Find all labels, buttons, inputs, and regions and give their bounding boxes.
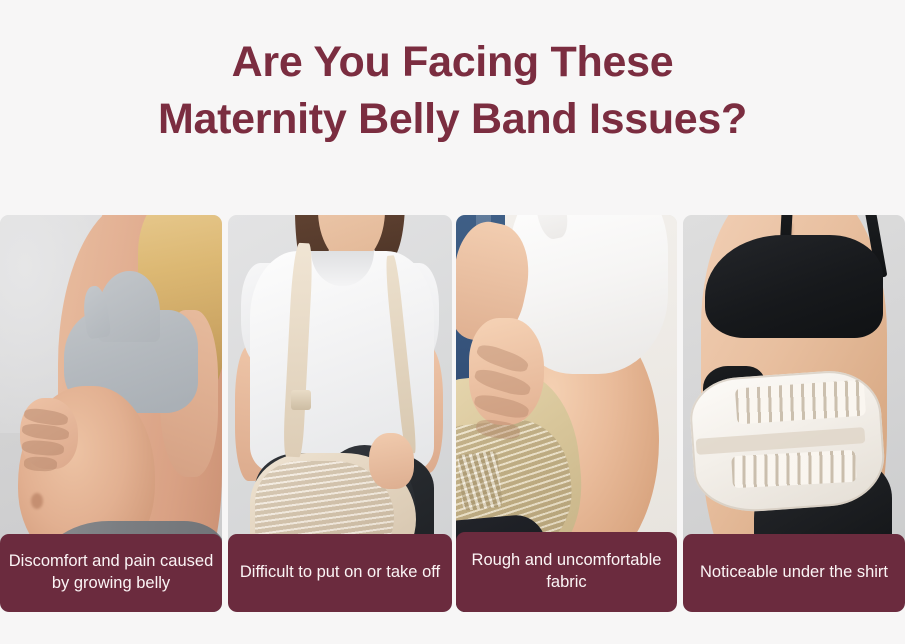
issue-caption-1: Discomfort and pain caused by growing be… (0, 534, 222, 612)
issue-panel-1[interactable]: Discomfort and pain caused by growing be… (0, 215, 222, 612)
issue-caption-3: Rough and uncomfortable fabric (456, 532, 677, 612)
issue-panel-2[interactable]: Difficult to put on or take off (228, 215, 452, 612)
page-title: Are You Facing These Maternity Belly Ban… (0, 34, 905, 148)
page-title-line-2: Maternity Belly Band Issues? (0, 91, 905, 148)
issue-caption-4: Noticeable under the shirt (683, 534, 905, 612)
issue-caption-2: Difficult to put on or take off (228, 534, 452, 612)
issue-panel-row: Discomfort and pain caused by growing be… (0, 215, 905, 612)
promotional-banner: Are You Facing These Maternity Belly Ban… (0, 0, 905, 644)
page-title-line-1: Are You Facing These (0, 34, 905, 91)
issue-panel-4[interactable]: Noticeable under the shirt (683, 215, 905, 612)
issue-panel-3[interactable]: Rough and uncomfortable fabric (456, 215, 677, 612)
